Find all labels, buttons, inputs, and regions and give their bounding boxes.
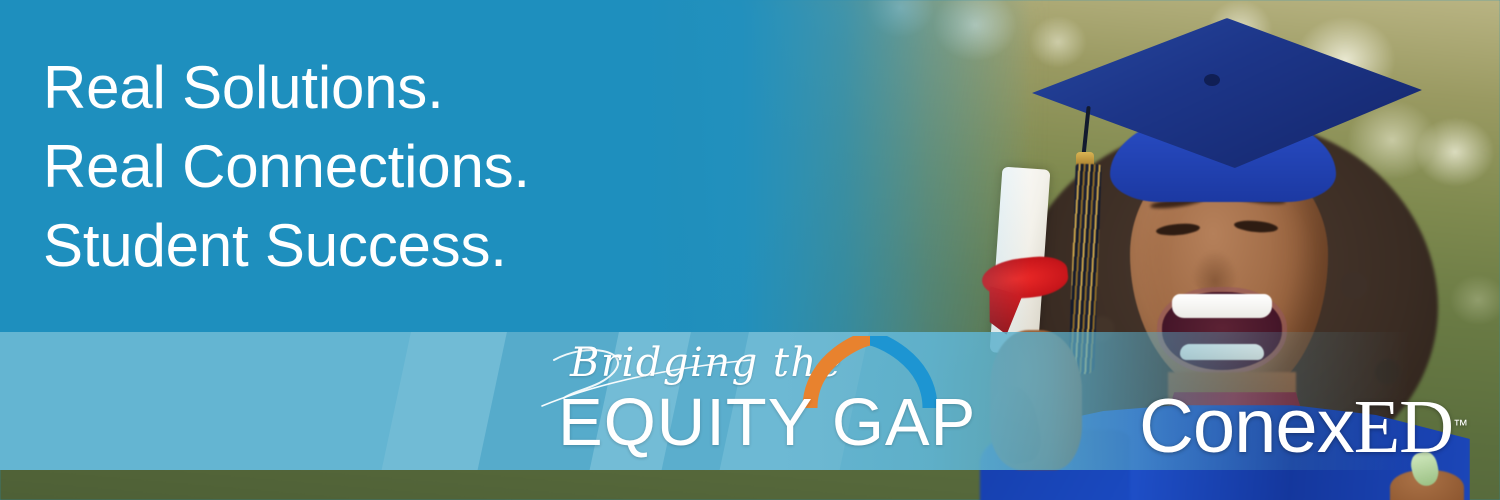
teeth-upper — [1172, 294, 1272, 318]
mortarboard-icon — [1032, 18, 1422, 168]
logo-ed-text: ED — [1354, 385, 1453, 469]
conexed-logo[interactable]: ConexED™ — [1139, 383, 1468, 471]
equity-gap-wordmark: EQUITY GAP — [558, 384, 976, 461]
logo-conex-text: Conex — [1139, 384, 1354, 469]
headline-line-2: Real Connections. — [43, 127, 530, 206]
trademark-icon: ™ — [1453, 417, 1468, 434]
conexed-banner: Real Solutions. Real Connections. Studen… — [0, 0, 1500, 500]
tassel-cord — [1081, 106, 1090, 158]
nose — [1192, 250, 1238, 294]
headline-line-1: Real Solutions. — [43, 48, 530, 127]
headline-line-3: Student Success. — [43, 206, 530, 285]
equity-gap-lockup: Bridging the EQUITY GAP — [540, 338, 960, 460]
cap-button — [1204, 74, 1220, 86]
headline: Real Solutions. Real Connections. Studen… — [43, 48, 530, 285]
